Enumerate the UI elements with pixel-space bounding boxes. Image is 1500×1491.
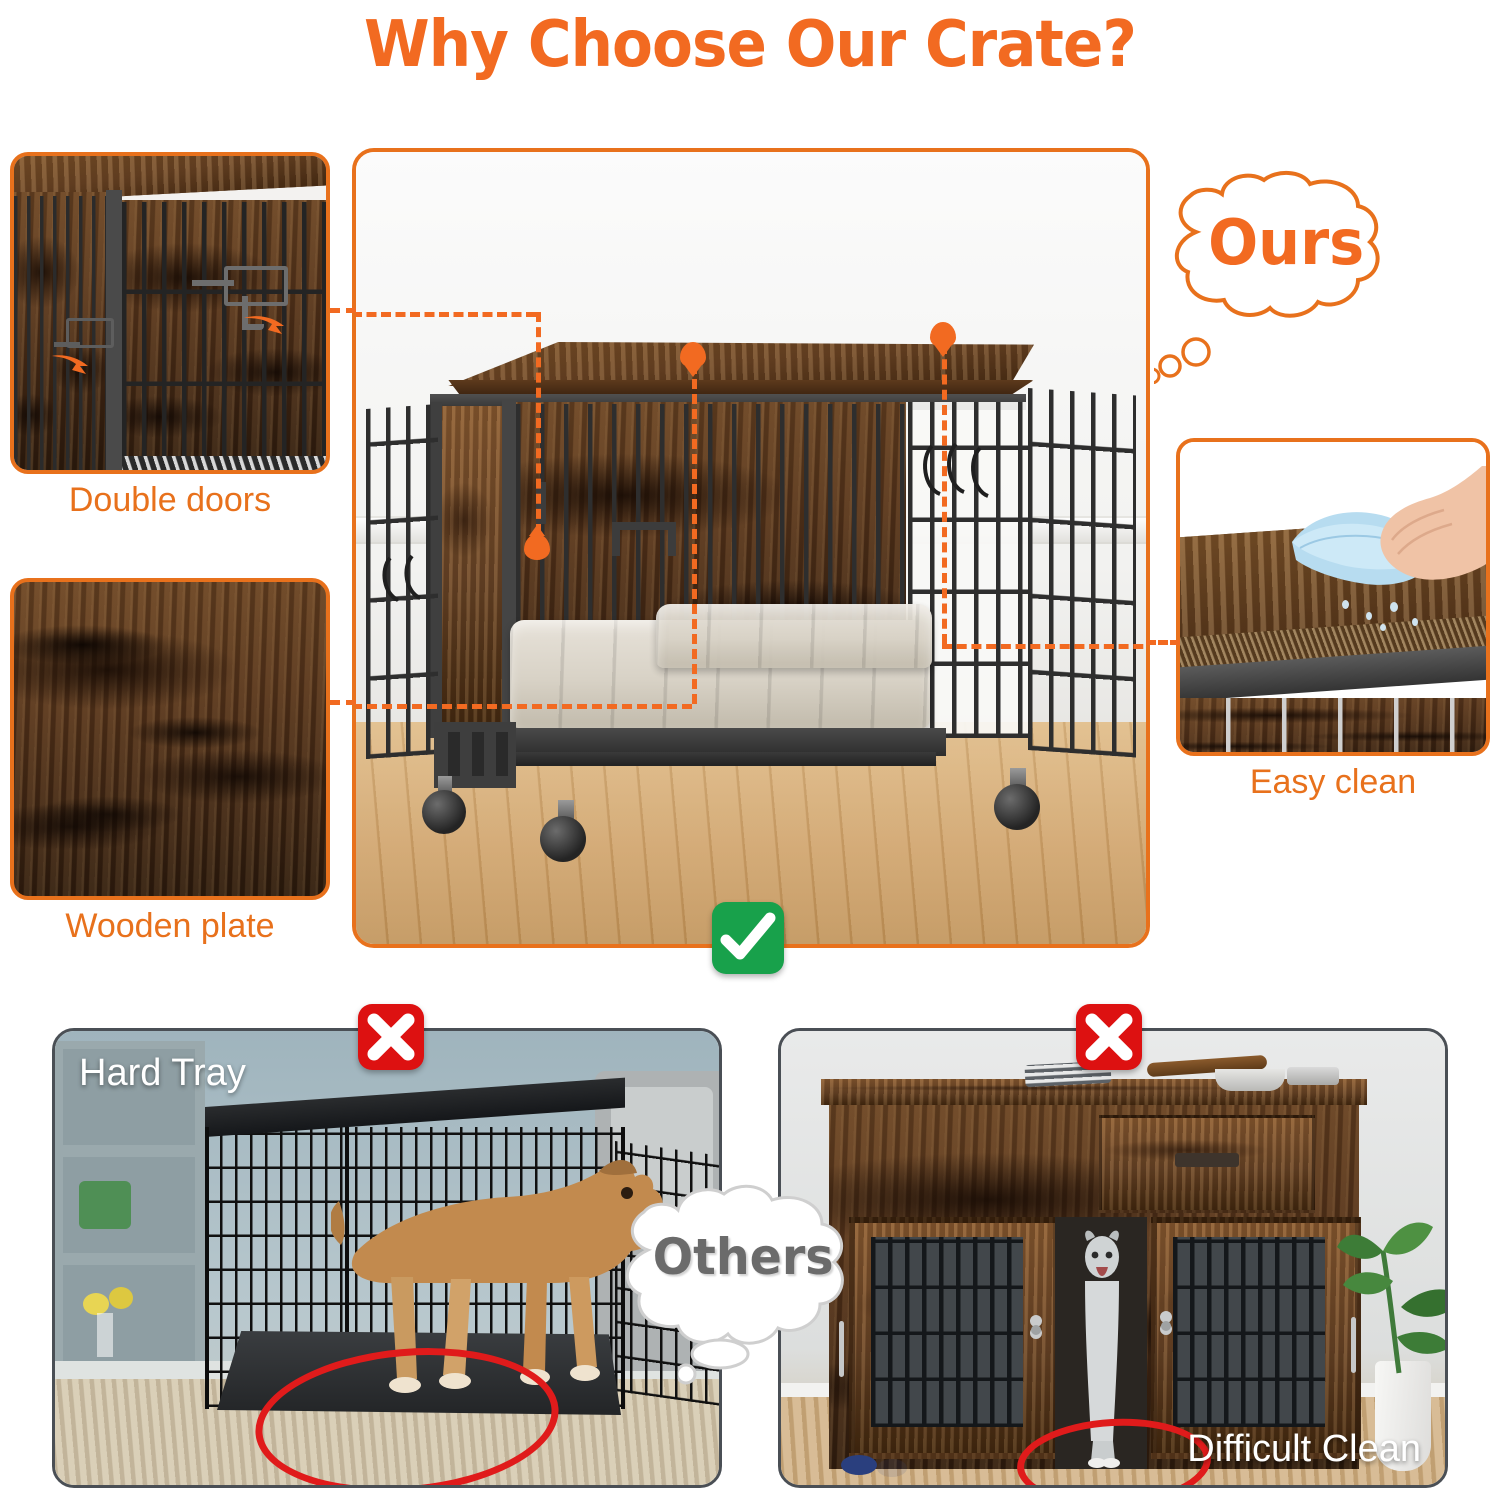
plant-leaves-icon xyxy=(1327,1207,1448,1377)
latch-loops-left-icon xyxy=(382,552,440,610)
others-bubble-label: Others xyxy=(653,1232,834,1282)
arrow-icon-left-latch xyxy=(50,352,92,384)
hinge-icon-left xyxy=(1019,1313,1053,1347)
feature-card-double-doors-caption: Double doors xyxy=(10,480,330,520)
feature-card-easy-clean-caption: Easy clean xyxy=(1176,762,1490,802)
connector-double-doors xyxy=(330,308,356,313)
ours-bubble-label: Ours xyxy=(1208,212,1364,274)
connector-easy-clean xyxy=(1146,640,1180,645)
caster-wheel xyxy=(422,790,466,834)
feature-card-wooden-plate xyxy=(10,578,330,900)
hero-product-card xyxy=(352,148,1150,948)
others-bubble-dots xyxy=(678,1336,764,1388)
cross-mark-badge-right xyxy=(1076,1004,1142,1070)
cross-icon xyxy=(358,1004,424,1070)
hero-photo xyxy=(356,152,1146,944)
cross-icon xyxy=(1076,1004,1142,1070)
feature-card-easy-clean xyxy=(1176,438,1490,756)
easy-clean-photo xyxy=(1180,442,1486,752)
ours-bubble-dots xyxy=(1154,336,1234,384)
callout-pin-top-right xyxy=(930,322,956,348)
comparison-card-difficult-clean: Difficult Clean xyxy=(778,1028,1448,1488)
double-doors-photo xyxy=(14,156,326,470)
check-icon xyxy=(712,902,784,974)
hard-tray-label: Hard Tray xyxy=(79,1051,246,1095)
difficult-clean-photo xyxy=(781,1031,1445,1485)
feature-card-double-doors xyxy=(10,152,330,474)
callout-line-wooden-plate-v xyxy=(692,364,697,704)
connector-wooden-plate xyxy=(330,700,356,705)
wooden-plate-photo xyxy=(14,582,326,896)
arrow-icon-right-latch xyxy=(242,312,286,346)
callout-line-double-doors xyxy=(352,312,536,317)
feature-card-wooden-plate-caption: Wooden plate xyxy=(10,906,330,946)
callout-pin-top-center xyxy=(680,342,706,368)
callout-line-easy-clean-v xyxy=(942,344,947,644)
difficult-clean-label: Difficult Clean xyxy=(1187,1427,1421,1471)
callout-line-double-doors-v xyxy=(536,312,541,534)
callout-line-easy-clean xyxy=(942,644,1150,649)
cross-mark-badge-left xyxy=(358,1004,424,1070)
page-title: Why Choose Our Crate? xyxy=(53,2,1448,88)
caster-wheel xyxy=(994,784,1040,830)
caster-wheel xyxy=(540,816,586,862)
check-mark-badge xyxy=(712,902,784,974)
hand-icon xyxy=(1364,464,1490,586)
callout-pin-double-doors xyxy=(524,534,550,560)
hinge-icon-right xyxy=(1149,1309,1183,1343)
callout-line-wooden-plate xyxy=(352,704,692,709)
latch-loops-icon xyxy=(922,440,1006,506)
